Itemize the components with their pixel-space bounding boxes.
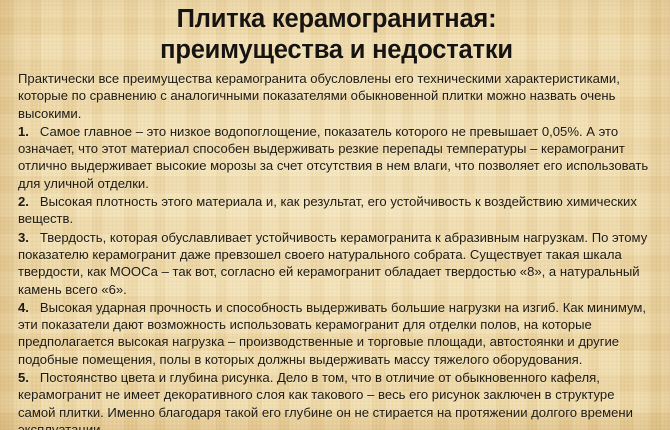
list-item-1: 1. Самое главное – это низкое водопоглощ… — [18, 123, 655, 192]
list-item-1-number: 1. — [18, 124, 36, 139]
list-item-2-text: Высокая плотность этого материала и, как… — [18, 194, 637, 226]
list-item-5: 5. Постоянство цвета и глубина рисунка. … — [18, 369, 655, 430]
intro-paragraph: Практически все преимущества керамограни… — [18, 70, 655, 122]
list-item-5-text: Постоянство цвета и глубина рисунка. Дел… — [18, 370, 633, 430]
list-item-4-text: Высокая ударная прочность и способность … — [18, 300, 646, 367]
poster-content: Плитка керамогранитная: преимущества и н… — [0, 0, 670, 430]
page-title: Плитка керамогранитная: преимущества и н… — [18, 0, 655, 68]
list-item-2: 2. Высокая плотность этого материала и, … — [18, 193, 655, 228]
body-text: Практически все преимущества керамограни… — [18, 68, 655, 430]
list-item-1-text: Самое главное – это низкое водопоглощени… — [18, 124, 648, 191]
list-item-4-number: 4. — [18, 300, 36, 315]
list-item-3-number: 3. — [18, 230, 36, 245]
list-item-2-number: 2. — [18, 194, 36, 209]
list-item-4: 4. Высокая ударная прочность и способнос… — [18, 299, 655, 368]
list-item-3: 3. Твердость, которая обуславливает усто… — [18, 229, 655, 298]
list-item-5-number: 5. — [18, 370, 36, 385]
title-line-2: преимущества и недостатки — [18, 35, 655, 66]
list-item-3-text: Твердость, которая обуславливает устойчи… — [18, 230, 647, 297]
poster-canvas: Плитка керамогранитная: преимущества и н… — [0, 0, 670, 430]
title-line-1: Плитка керамогранитная: — [18, 4, 655, 35]
